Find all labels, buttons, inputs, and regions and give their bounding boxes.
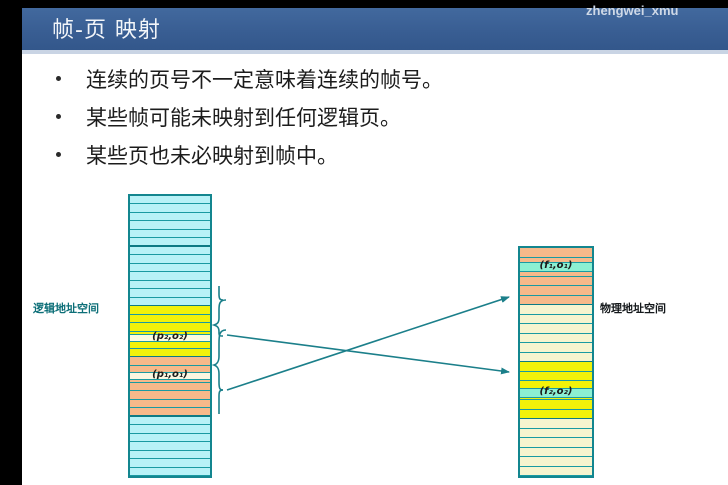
memory-frame-row [520, 248, 592, 258]
memory-frame-row [130, 459, 210, 467]
memory-frame-row [130, 255, 210, 263]
list-item: 某些帧可能未映射到任何逻辑页。 [56, 106, 576, 144]
memory-frame-row [520, 429, 592, 439]
bullet-text: 连续的页号不一定意味着连续的帧号。 [86, 64, 443, 94]
memory-frame-row [130, 247, 210, 255]
slide-root: 帧-页 映射 zhengwei_xmu 连续的页号不一定意味着连续的帧号。 某些… [0, 0, 728, 485]
memory-frame-row [130, 383, 210, 391]
memory-frame-row [130, 417, 210, 425]
physical-address-space-tag-f1o1: (f₁,o₁) [520, 260, 592, 271]
logical-space-label: 逻辑地址空间 [33, 300, 99, 316]
memory-frame-row [520, 277, 592, 287]
memory-frame-row [130, 204, 210, 212]
page-title: 帧-页 映射 [52, 12, 161, 44]
bullet-dot-icon [56, 152, 61, 157]
bullet-dot-icon [56, 114, 61, 119]
memory-frame-row [520, 400, 592, 410]
list-item: 连续的页号不一定意味着连续的帧号。 [56, 68, 576, 106]
memory-frame-row [520, 419, 592, 429]
logical-address-space-tag-p1o1: (p₁,o₁) [130, 369, 210, 380]
memory-frame-row [130, 357, 210, 365]
bullet-text: 某些页也未必映射到帧中。 [86, 140, 338, 170]
memory-frame-row [520, 324, 592, 334]
bullet-dot-icon [56, 76, 61, 81]
memory-frame-row [520, 362, 592, 372]
physical-address-space-column: (f₁,o₁)(f₂,o₂) [518, 246, 594, 478]
memory-frame-row [520, 315, 592, 325]
memory-frame-row [520, 286, 592, 296]
memory-frame-row [130, 281, 210, 289]
memory-frame-row [520, 467, 592, 477]
memory-frame-row [130, 289, 210, 297]
memory-frame-row [130, 306, 210, 314]
memory-frame-row [130, 391, 210, 399]
memory-frame-row [130, 196, 210, 204]
memory-frame-row [520, 334, 592, 344]
memory-frame-row [130, 442, 210, 450]
logical-address-space-tag-p2o2: (p₂,o₂) [130, 331, 210, 342]
memory-frame-row [520, 457, 592, 467]
memory-frame-row [520, 448, 592, 458]
memory-frame-row [130, 400, 210, 408]
physical-space-label: 物理地址空间 [600, 300, 666, 316]
memory-frame-row [130, 315, 210, 323]
memory-frame-row [520, 438, 592, 448]
memory-frame-row [520, 372, 592, 382]
logical-address-space-column: (p₂,o₂)(p₁,o₁) [128, 194, 212, 478]
watermark-label: zhengwei_xmu [586, 3, 678, 18]
memory-frame-row [130, 451, 210, 459]
memory-frame-row [130, 264, 210, 272]
title-underline [22, 50, 728, 54]
physical-address-space-tag-f2o2: (f₂,o₂) [520, 386, 592, 397]
memory-frame-row [130, 425, 210, 433]
memory-frame-row [130, 434, 210, 442]
memory-frame-row [520, 305, 592, 315]
list-item: 某些页也未必映射到帧中。 [56, 144, 576, 182]
memory-frame-row [130, 221, 210, 229]
memory-frame-row [130, 468, 210, 476]
bullet-text: 某些帧可能未映射到任何逻辑页。 [86, 102, 401, 132]
bullet-list: 连续的页号不一定意味着连续的帧号。 某些帧可能未映射到任何逻辑页。 某些页也未必… [56, 68, 576, 182]
memory-frame-row [130, 213, 210, 221]
memory-frame-row [520, 343, 592, 353]
memory-frame-row [130, 272, 210, 280]
memory-frame-row [130, 230, 210, 238]
